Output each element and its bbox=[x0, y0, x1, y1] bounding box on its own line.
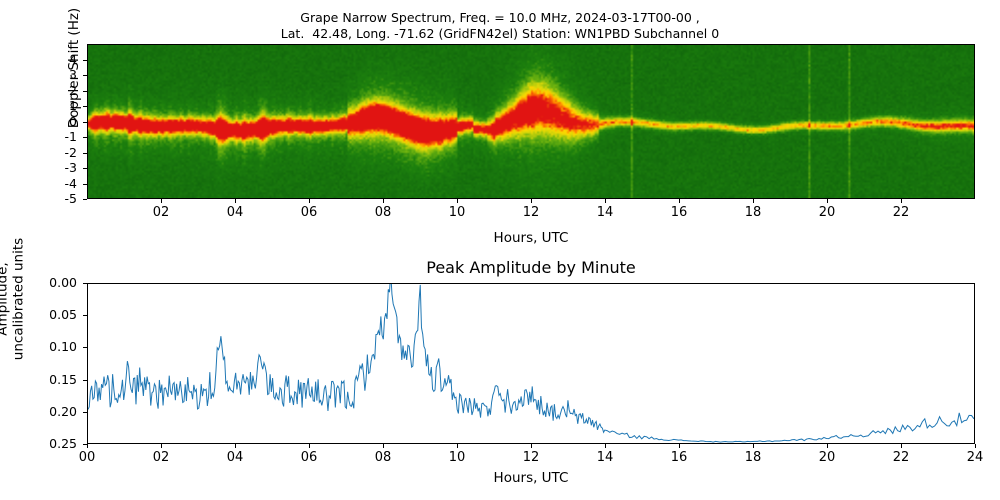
spectrogram-y-tick-label: 1 bbox=[47, 98, 77, 113]
amplitude-y-tick-mark bbox=[83, 283, 87, 284]
amplitude-x-tick-mark bbox=[531, 444, 532, 448]
spectrogram-x-tick-mark bbox=[827, 199, 828, 203]
amplitude-x-tick-mark bbox=[235, 444, 236, 448]
amplitude-x-tick-label: 22 bbox=[886, 450, 916, 465]
amplitude-y-tick-mark bbox=[83, 412, 87, 413]
amplitude-chart-title: Peak Amplitude by Minute bbox=[87, 258, 975, 277]
amplitude-x-tick-mark bbox=[901, 444, 902, 448]
amplitude-x-tick-label: 24 bbox=[960, 450, 990, 465]
spectrogram-x-tick-label: 02 bbox=[146, 205, 176, 220]
spectrogram-x-tick-mark bbox=[457, 199, 458, 203]
spectrogram-y-tick-mark bbox=[83, 91, 87, 92]
amplitude-y-tick-mark bbox=[83, 380, 87, 381]
spectrogram-x-tick-label: 10 bbox=[442, 205, 472, 220]
spectrogram-x-tick-mark bbox=[679, 199, 680, 203]
spectrogram-y-tick-mark bbox=[83, 60, 87, 61]
amplitude-x-tick-label: 06 bbox=[294, 450, 324, 465]
spectrogram-y-tick-mark bbox=[83, 199, 87, 200]
spectrogram-plot-area bbox=[87, 44, 975, 199]
spectrogram-y-tick-mark bbox=[83, 75, 87, 76]
spectrogram-y-tick-mark bbox=[83, 106, 87, 107]
spectrogram-x-tick-mark bbox=[531, 199, 532, 203]
amplitude-x-tick-label: 20 bbox=[812, 450, 842, 465]
amplitude-x-tick-label: 10 bbox=[442, 450, 472, 465]
spectrogram-y-tick-label: 0 bbox=[47, 114, 77, 129]
amplitude-plot-area bbox=[87, 283, 975, 444]
spectrogram-y-tick-label: 2 bbox=[47, 83, 77, 98]
amplitude-x-tick-mark bbox=[383, 444, 384, 448]
amplitude-x-tick-mark bbox=[161, 444, 162, 448]
spectrogram-x-tick-label: 20 bbox=[812, 205, 842, 220]
amplitude-y-tick-label: 0.10 bbox=[41, 339, 77, 354]
spectrogram-x-tick-label: 16 bbox=[664, 205, 694, 220]
amplitude-y-tick-label: 0.00 bbox=[41, 275, 77, 290]
spectrogram-y-tick-mark bbox=[83, 122, 87, 123]
amplitude-series-path bbox=[88, 284, 974, 442]
amplitude-y-tick-label: 0.15 bbox=[41, 372, 77, 387]
amplitude-x-tick-label: 02 bbox=[146, 450, 176, 465]
figure-title-line2: Lat. 42.48, Long. -71.62 (GridFN42el) St… bbox=[0, 26, 1000, 42]
amplitude-y-tick-mark bbox=[83, 315, 87, 316]
figure-root: Grape Narrow Spectrum, Freq. = 10.0 MHz,… bbox=[0, 0, 1000, 500]
amplitude-x-tick-label: 00 bbox=[72, 450, 102, 465]
spectrogram-x-tick-mark bbox=[901, 199, 902, 203]
amplitude-x-tick-mark bbox=[827, 444, 828, 448]
spectrogram-y-tick-label: 4 bbox=[47, 52, 77, 67]
spectrogram-y-tick-label: -1 bbox=[47, 129, 77, 144]
amplitude-y-axis-label: Amplitude, uncalibrated units bbox=[0, 219, 27, 380]
amplitude-x-tick-label: 08 bbox=[368, 450, 398, 465]
amplitude-x-tick-mark bbox=[975, 444, 976, 448]
spectrogram-y-tick-label: -2 bbox=[47, 145, 77, 160]
spectrogram-x-tick-label: 18 bbox=[738, 205, 768, 220]
amplitude-y-tick-label: 0.05 bbox=[41, 307, 77, 322]
amplitude-x-tick-label: 14 bbox=[590, 450, 620, 465]
amplitude-x-tick-mark bbox=[457, 444, 458, 448]
spectrogram-y-tick-label: -3 bbox=[47, 160, 77, 175]
spectrogram-y-tick-mark bbox=[83, 184, 87, 185]
spectrogram-y-tick-label: -5 bbox=[47, 191, 77, 206]
spectrogram-x-tick-label: 12 bbox=[516, 205, 546, 220]
spectrogram-y-tick-mark bbox=[83, 137, 87, 138]
spectrogram-y-tick-mark bbox=[83, 168, 87, 169]
amplitude-x-tick-mark bbox=[753, 444, 754, 448]
spectrogram-x-tick-label: 04 bbox=[220, 205, 250, 220]
spectrogram-x-axis-label: Hours, UTC bbox=[87, 230, 975, 246]
spectrogram-y-tick-mark bbox=[83, 153, 87, 154]
amplitude-x-tick-label: 12 bbox=[516, 450, 546, 465]
spectrogram-x-tick-mark bbox=[235, 199, 236, 203]
spectrogram-y-tick-label: 3 bbox=[47, 67, 77, 82]
spectrogram-x-tick-label: 06 bbox=[294, 205, 324, 220]
spectrogram-x-tick-label: 14 bbox=[590, 205, 620, 220]
spectrogram-x-tick-mark bbox=[161, 199, 162, 203]
amplitude-x-tick-mark bbox=[605, 444, 606, 448]
amplitude-y-tick-label: 0.20 bbox=[41, 404, 77, 419]
spectrogram-x-tick-mark bbox=[605, 199, 606, 203]
amplitude-x-tick-label: 16 bbox=[664, 450, 694, 465]
figure-title-line1: Grape Narrow Spectrum, Freq. = 10.0 MHz,… bbox=[0, 10, 1000, 26]
amplitude-y-tick-label: 0.25 bbox=[41, 436, 77, 451]
spectrogram-y-tick-label: -4 bbox=[47, 176, 77, 191]
amplitude-x-tick-mark bbox=[87, 444, 88, 448]
amplitude-x-axis-label: Hours, UTC bbox=[87, 470, 975, 486]
spectrogram-image bbox=[88, 45, 974, 198]
amplitude-x-tick-label: 18 bbox=[738, 450, 768, 465]
spectrogram-x-tick-label: 22 bbox=[886, 205, 916, 220]
spectrogram-x-tick-label: 08 bbox=[368, 205, 398, 220]
amplitude-line-series bbox=[88, 284, 974, 443]
spectrogram-x-tick-mark bbox=[383, 199, 384, 203]
figure-title: Grape Narrow Spectrum, Freq. = 10.0 MHz,… bbox=[0, 10, 1000, 42]
spectrogram-x-tick-mark bbox=[309, 199, 310, 203]
amplitude-y-tick-mark bbox=[83, 347, 87, 348]
amplitude-x-tick-label: 04 bbox=[220, 450, 250, 465]
amplitude-x-tick-mark bbox=[679, 444, 680, 448]
spectrogram-x-tick-mark bbox=[753, 199, 754, 203]
amplitude-x-tick-mark bbox=[309, 444, 310, 448]
